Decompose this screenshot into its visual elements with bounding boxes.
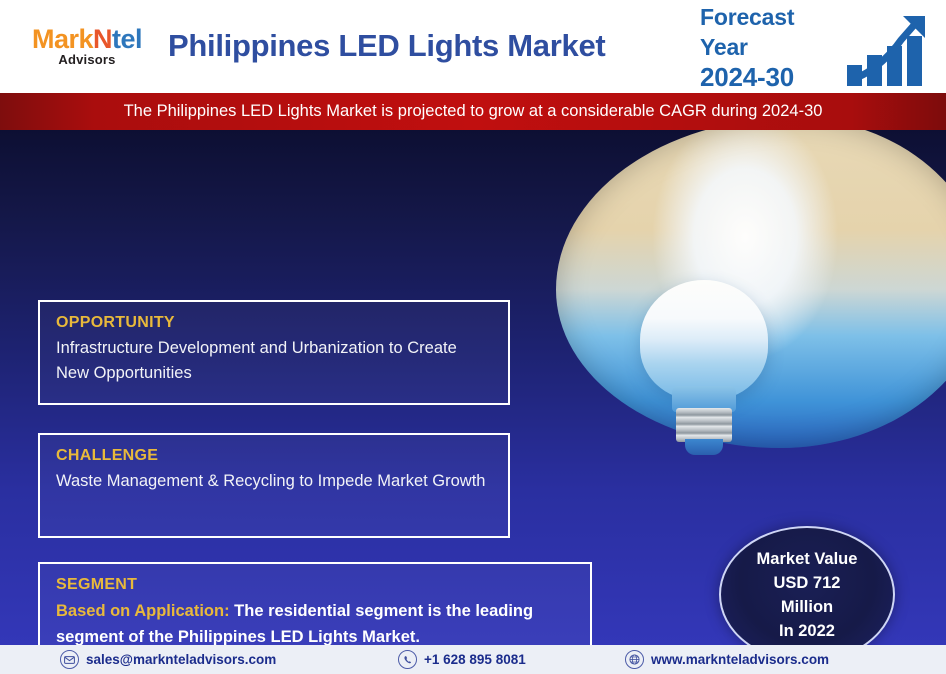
card-segment-lead: Based on Application:: [56, 602, 230, 620]
card-segment-heading: SEGMENT: [56, 576, 574, 594]
logo-wordmark: MarkNtel: [14, 24, 160, 54]
led-bulb-illustration: [640, 280, 768, 445]
phone-icon: [398, 650, 417, 669]
footer: sales@marknteladvisors.com +1 628 895 80…: [0, 645, 946, 674]
logo-tagline: Advisors: [14, 53, 160, 67]
card-challenge-heading: CHALLENGE: [56, 447, 492, 465]
market-value-amount: USD 712: [757, 571, 858, 595]
forecast-year-block: Forecast Year 2024-30: [700, 2, 860, 93]
card-opportunity: OPPORTUNITY Infrastructure Development a…: [38, 300, 510, 405]
market-value-unit: Million: [757, 595, 858, 619]
globe-icon: [625, 650, 644, 669]
bulb-screw-base: [676, 408, 732, 442]
envelope-icon: [60, 650, 79, 669]
card-segment-body: Based on Application: The residential se…: [56, 598, 574, 645]
footer-website-text: www.marknteladvisors.com: [651, 652, 829, 667]
logo-part-n: N: [93, 24, 112, 54]
page-title: Philippines LED Lights Market: [168, 24, 676, 68]
card-opportunity-heading: OPPORTUNITY: [56, 314, 492, 332]
footer-phone[interactable]: +1 628 895 8081: [398, 645, 526, 674]
headline-banner: The Philippines LED Lights Market is pro…: [0, 93, 946, 130]
growth-bar-chart-icon: [845, 10, 935, 88]
market-value-label: Market Value: [757, 547, 858, 571]
company-logo: MarkNtel Advisors: [14, 24, 160, 74]
card-segment: SEGMENT Based on Application: The reside…: [38, 562, 592, 645]
logo-part-tel: tel: [112, 24, 142, 54]
bulb-tip: [685, 439, 723, 455]
card-challenge: CHALLENGE Waste Management & Recycling t…: [38, 433, 510, 538]
market-value-badge: Market Value USD 712 Million In 2022: [719, 526, 895, 645]
header: MarkNtel Advisors Philippines LED Lights…: [0, 0, 946, 93]
footer-email[interactable]: sales@marknteladvisors.com: [60, 645, 276, 674]
forecast-label-line1: Forecast: [700, 2, 860, 32]
forecast-year-value: 2024-30: [700, 62, 860, 93]
footer-website[interactable]: www.marknteladvisors.com: [625, 645, 829, 674]
footer-phone-text: +1 628 895 8081: [424, 652, 526, 667]
footer-email-text: sales@marknteladvisors.com: [86, 652, 276, 667]
market-value-year: In 2022: [757, 619, 858, 643]
card-opportunity-body: Infrastructure Development and Urbanizat…: [56, 336, 492, 386]
infographic-poster: MarkNtel Advisors Philippines LED Lights…: [0, 0, 946, 674]
forecast-label-line2: Year: [700, 32, 860, 62]
main-body: OPPORTUNITY Infrastructure Development a…: [0, 130, 946, 645]
logo-part-mark: Mark: [32, 24, 93, 54]
card-challenge-body: Waste Management & Recycling to Impede M…: [56, 469, 492, 494]
bulb-glass: [640, 280, 768, 400]
